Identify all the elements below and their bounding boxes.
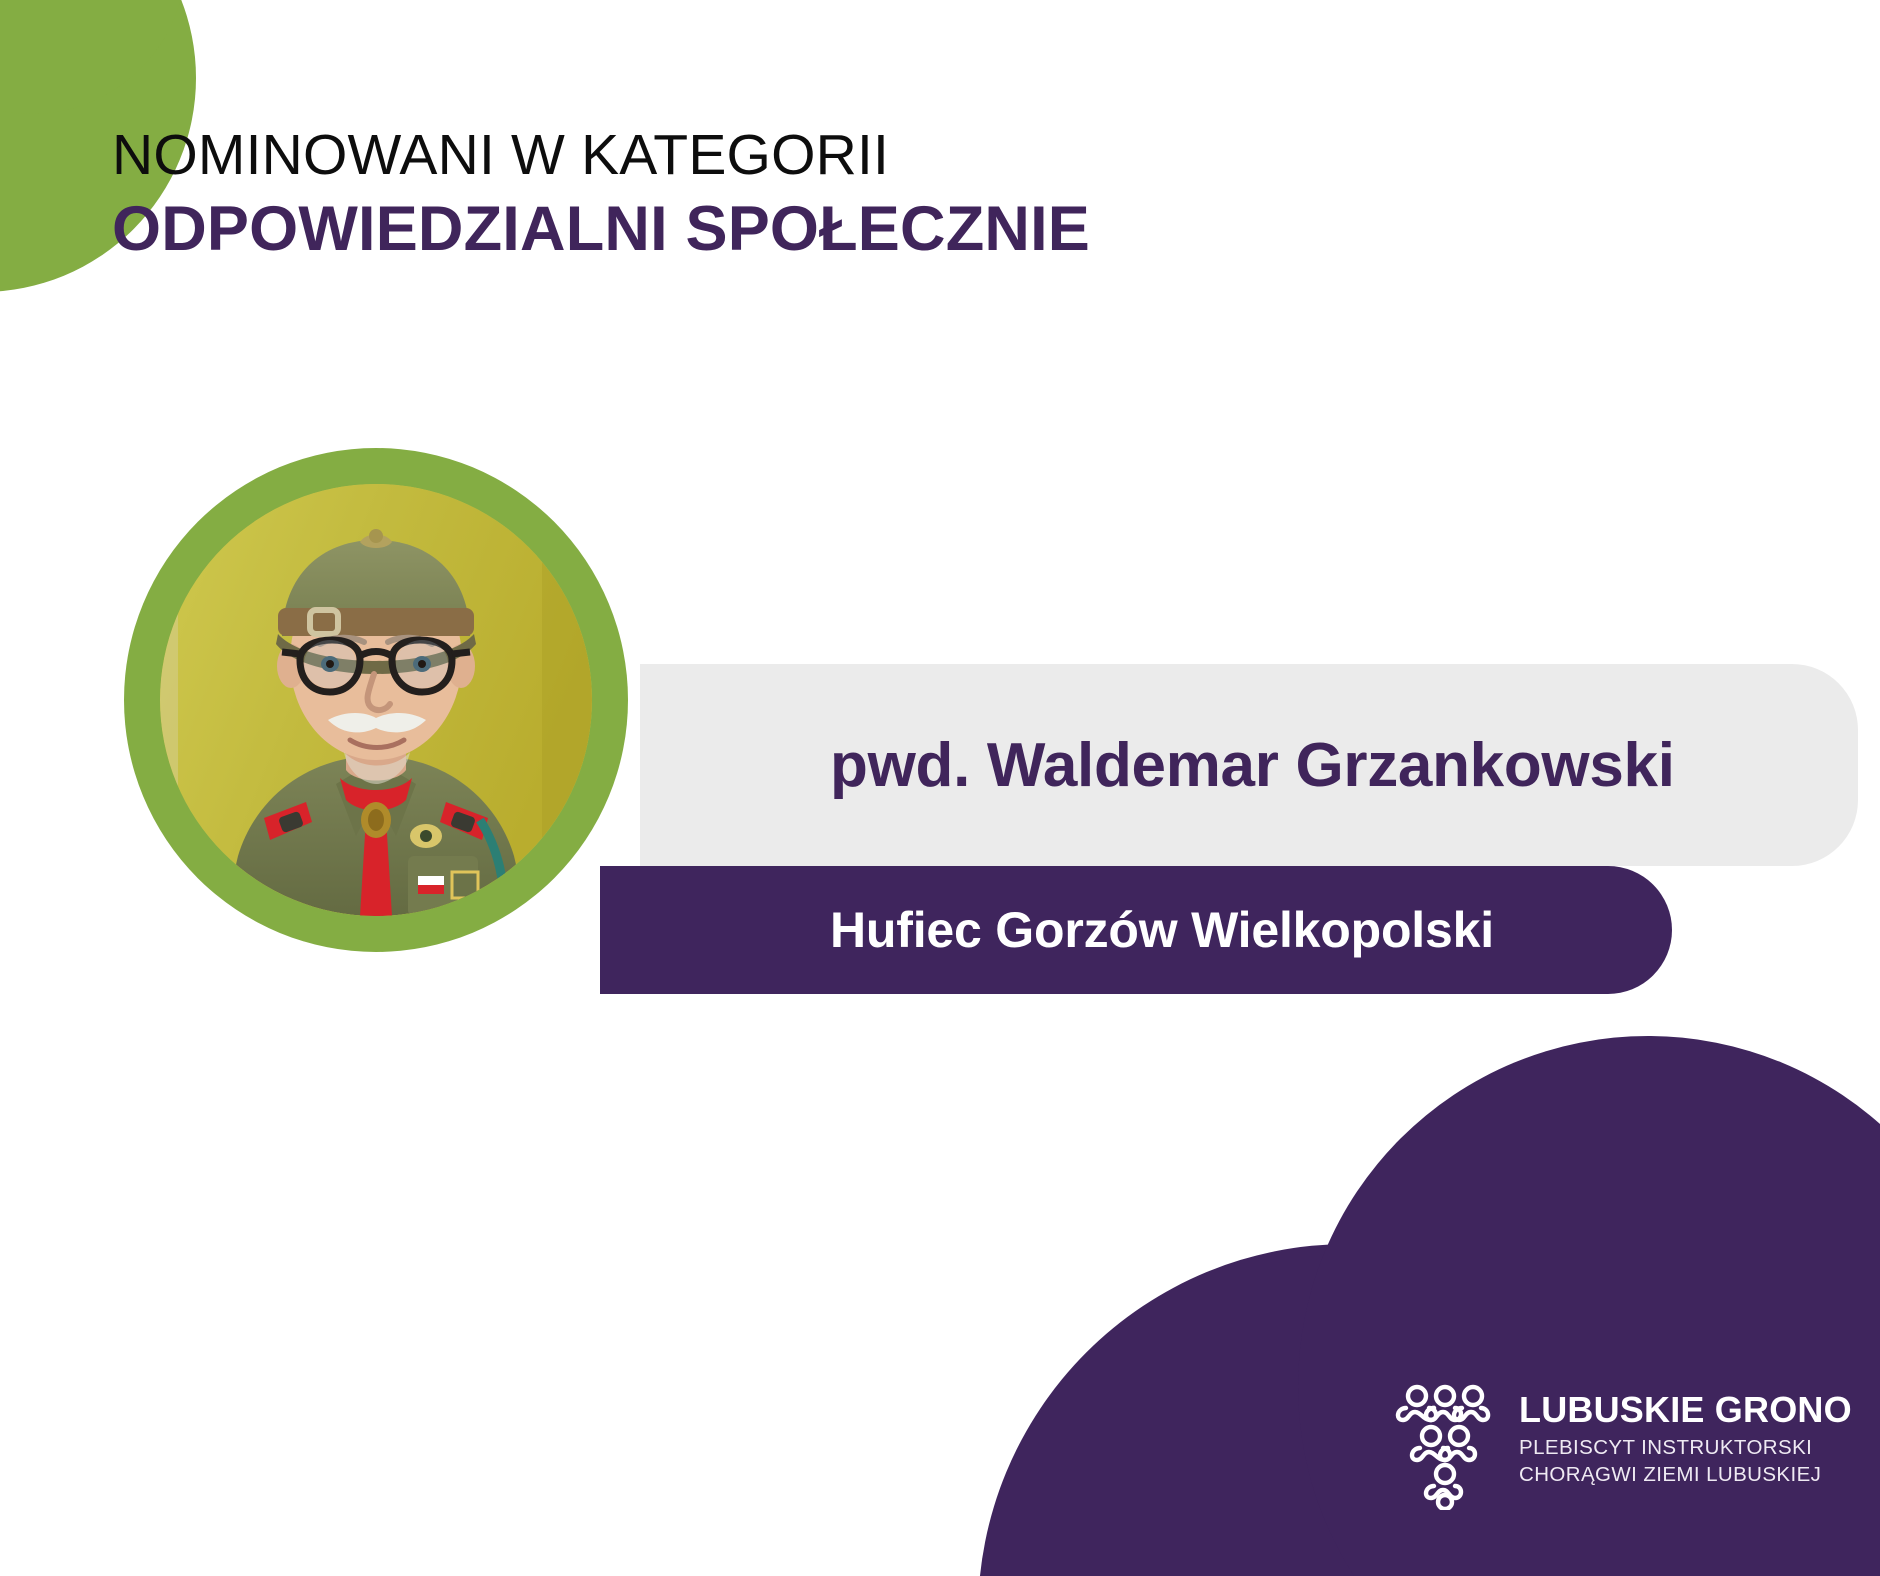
brand-logo: LUBUSKIE GRONO PLEBISCYT INSTRUKTORSKI C… [1393, 1382, 1852, 1510]
brand-logo-text: LUBUSKIE GRONO PLEBISCYT INSTRUKTORSKI C… [1519, 1382, 1852, 1488]
nominee-name-bar: pwd. Waldemar Grzankowski [640, 664, 1858, 866]
heading-line-category: NOMINOWANI W KATEGORII [112, 124, 1512, 188]
page-title: NOMINOWANI W KATEGORII ODPOWIEDZIALNI SP… [112, 124, 1512, 264]
poster-canvas: NOMINOWANI W KATEGORII ODPOWIEDZIALNI SP… [0, 0, 1880, 1576]
grape-cluster-icon [1393, 1382, 1497, 1510]
avatar-photo [160, 484, 592, 916]
portrait-illustration [160, 484, 592, 916]
green-blob-circle-small [0, 0, 186, 114]
nominee-name: pwd. Waldemar Grzankowski [830, 730, 1675, 801]
heading-line-category-name: ODPOWIEDZIALNI SPOŁECZNIE [112, 194, 1512, 265]
brand-tagline-line1: PLEBISCYT INSTRUKTORSKI [1519, 1435, 1852, 1461]
nominee-unit-bar: Hufiec Gorzów Wielkopolski [600, 866, 1672, 994]
avatar [124, 448, 628, 952]
brand-tagline-line2: CHORĄGWI ZIEMI LUBUSKIEJ [1519, 1462, 1852, 1488]
nominee-unit: Hufiec Gorzów Wielkopolski [830, 901, 1494, 959]
brand-name: LUBUSKIE GRONO [1519, 1392, 1852, 1428]
